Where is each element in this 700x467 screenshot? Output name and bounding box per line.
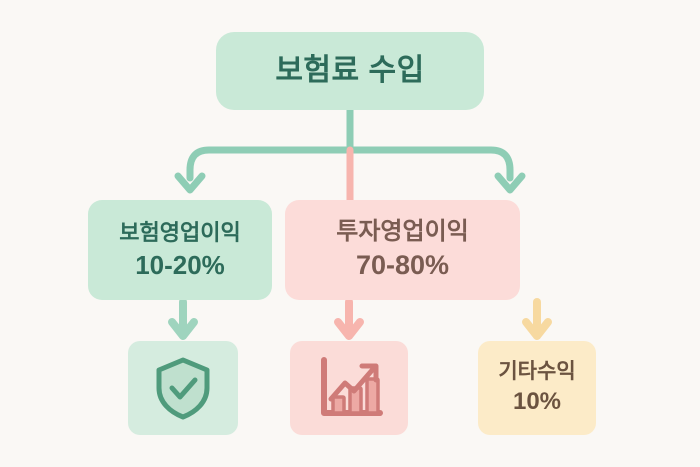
node-other-income[interactable]: 기타수익 10% (478, 341, 596, 435)
bar-chart-growth-icon (314, 355, 384, 421)
node-insurance-operating-profit[interactable]: 보험영업이익 10-20% (88, 200, 272, 300)
connector-root-to-left (190, 150, 350, 178)
node-premium-income[interactable]: 보험료 수입 (216, 32, 484, 110)
node-investment-operating-profit[interactable]: 투자영업이익 70-80% (285, 200, 520, 300)
node-investment-operating-profit-title: 투자영업이익 (336, 218, 468, 246)
node-insurance-operating-profit-value: 10-20% (135, 250, 225, 281)
node-premium-income-title: 보험료 수입 (275, 53, 424, 88)
node-insurance-operating-profit-title: 보험영업이익 (119, 220, 240, 246)
connector-root-to-right (350, 150, 510, 178)
shield-check-icon (152, 355, 214, 421)
node-other-income-title: 기타수익 (498, 360, 575, 385)
node-investment-operating-profit-value: 70-80% (356, 250, 449, 282)
node-chart-tile[interactable] (290, 341, 408, 435)
node-shield-tile[interactable] (128, 341, 238, 435)
node-other-income-value: 10% (513, 388, 561, 416)
diagram-canvas: 보험료 수입 보험영업이익 10-20% 투자영업이익 70-80% (0, 0, 700, 467)
